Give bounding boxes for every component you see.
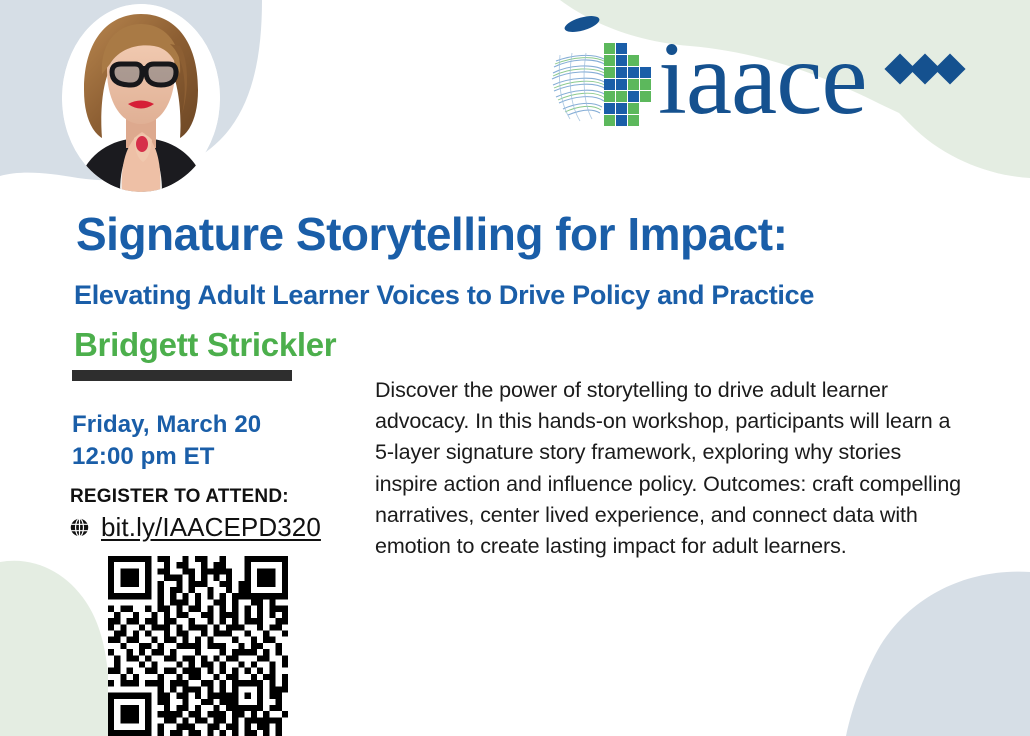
- speaker-photo: [62, 4, 220, 192]
- event-flyer: iaace Signature Storytelling for Impact:…: [0, 0, 1030, 736]
- logo-diamond-accent: [889, 58, 961, 80]
- qr-code[interactable]: [108, 556, 288, 736]
- shape-bottom-left-green: [0, 561, 109, 736]
- event-description: Discover the power of storytelling to dr…: [375, 375, 967, 562]
- registration-url[interactable]: bit.ly/IAACEPD320: [101, 512, 321, 543]
- registration-link[interactable]: bit.ly/IAACEPD320: [70, 512, 321, 543]
- shape-bottom-right-blue-gray: [846, 572, 1030, 736]
- event-time: 12:00 pm ET: [72, 441, 261, 473]
- event-datetime: Friday, March 20 12:00 pm ET: [72, 409, 261, 473]
- globe-icon: [70, 518, 89, 537]
- event-date: Friday, March 20: [72, 409, 261, 441]
- speaker-name: Bridgett Strickler: [74, 327, 336, 363]
- logo-wordmark: iaace: [658, 27, 867, 131]
- register-label: REGISTER TO ATTEND:: [70, 486, 289, 508]
- iaace-logo: iaace: [548, 12, 968, 140]
- divider-rule: [72, 370, 292, 381]
- page-title: Signature Storytelling for Impact:: [76, 210, 976, 258]
- page-subtitle: Elevating Adult Learner Voices to Drive …: [74, 281, 1014, 311]
- iaace-apple-logo: [548, 15, 656, 137]
- diamond-icon-3: [934, 53, 965, 84]
